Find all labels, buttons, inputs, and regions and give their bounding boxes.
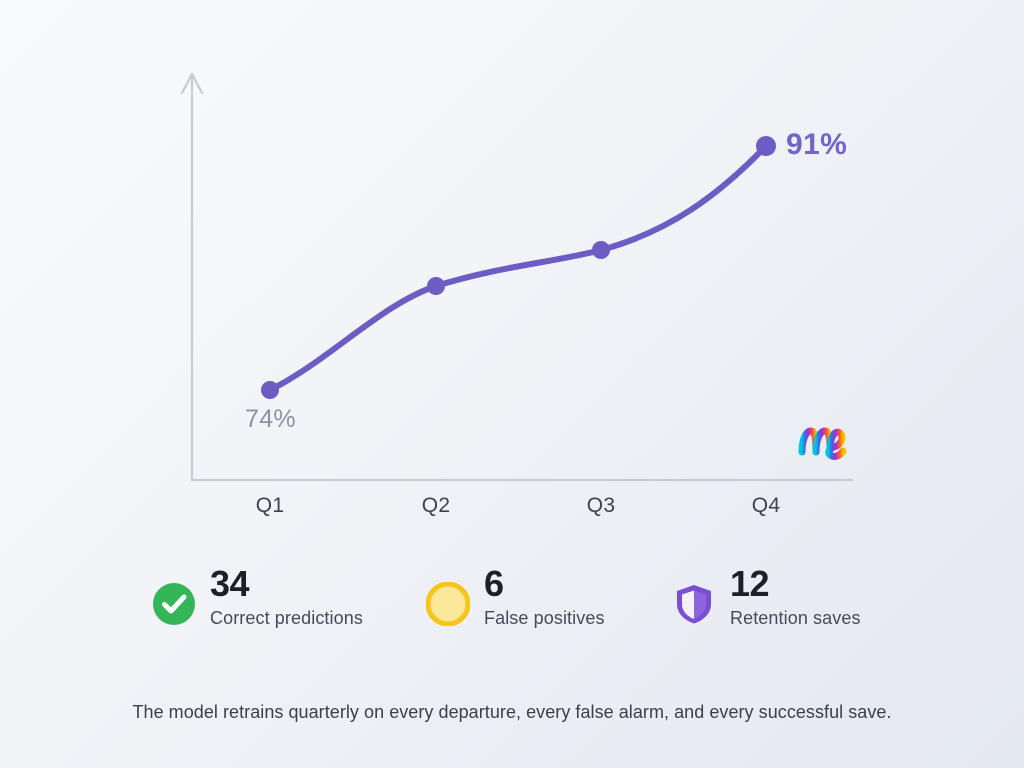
stat-retention-saves[interactable]: 12 Retention saves bbox=[672, 566, 861, 629]
x-tick-q2: Q2 bbox=[391, 494, 481, 518]
stat-false-positives[interactable]: 6 False positives bbox=[426, 566, 605, 629]
stats-row: 34 Correct predictions 6 False positives… bbox=[0, 566, 1024, 658]
chart-canvas bbox=[0, 0, 1024, 540]
x-tick-q4: Q4 bbox=[721, 494, 811, 518]
stat-text-block: 34 Correct predictions bbox=[210, 566, 363, 629]
stat-value: 34 bbox=[210, 566, 363, 603]
stat-value: 6 bbox=[484, 566, 605, 603]
stat-text-block: 12 Retention saves bbox=[730, 566, 861, 629]
x-tick-q1: Q1 bbox=[225, 494, 315, 518]
stat-text-block: 6 False positives bbox=[484, 566, 605, 629]
end-value-label: 91% bbox=[786, 128, 847, 162]
data-point-q4[interactable] bbox=[756, 136, 776, 156]
slide-root: 74% 91% Q1 Q2 Q3 Q4 34 Correct predictio… bbox=[0, 0, 1024, 768]
stat-label: Correct predictions bbox=[210, 608, 363, 629]
accuracy-line-chart: 74% 91% Q1 Q2 Q3 Q4 bbox=[0, 0, 1024, 540]
stat-value: 12 bbox=[730, 566, 861, 603]
data-point-q3[interactable] bbox=[592, 241, 610, 259]
warning-circle-icon bbox=[426, 582, 470, 626]
footer-caption: The model retrains quarterly on every de… bbox=[0, 702, 1024, 723]
trend-line bbox=[270, 146, 766, 390]
stat-label: Retention saves bbox=[730, 608, 861, 629]
stat-correct-predictions[interactable]: 34 Correct predictions bbox=[152, 566, 363, 629]
data-point-q1[interactable] bbox=[261, 381, 279, 399]
me-logo-icon bbox=[794, 421, 850, 463]
data-point-q2[interactable] bbox=[427, 277, 445, 295]
x-tick-q3: Q3 bbox=[556, 494, 646, 518]
stat-label: False positives bbox=[484, 608, 605, 629]
check-circle-icon bbox=[152, 582, 196, 626]
start-value-label: 74% bbox=[245, 405, 296, 434]
y-axis bbox=[182, 74, 202, 480]
shield-icon bbox=[672, 582, 716, 626]
